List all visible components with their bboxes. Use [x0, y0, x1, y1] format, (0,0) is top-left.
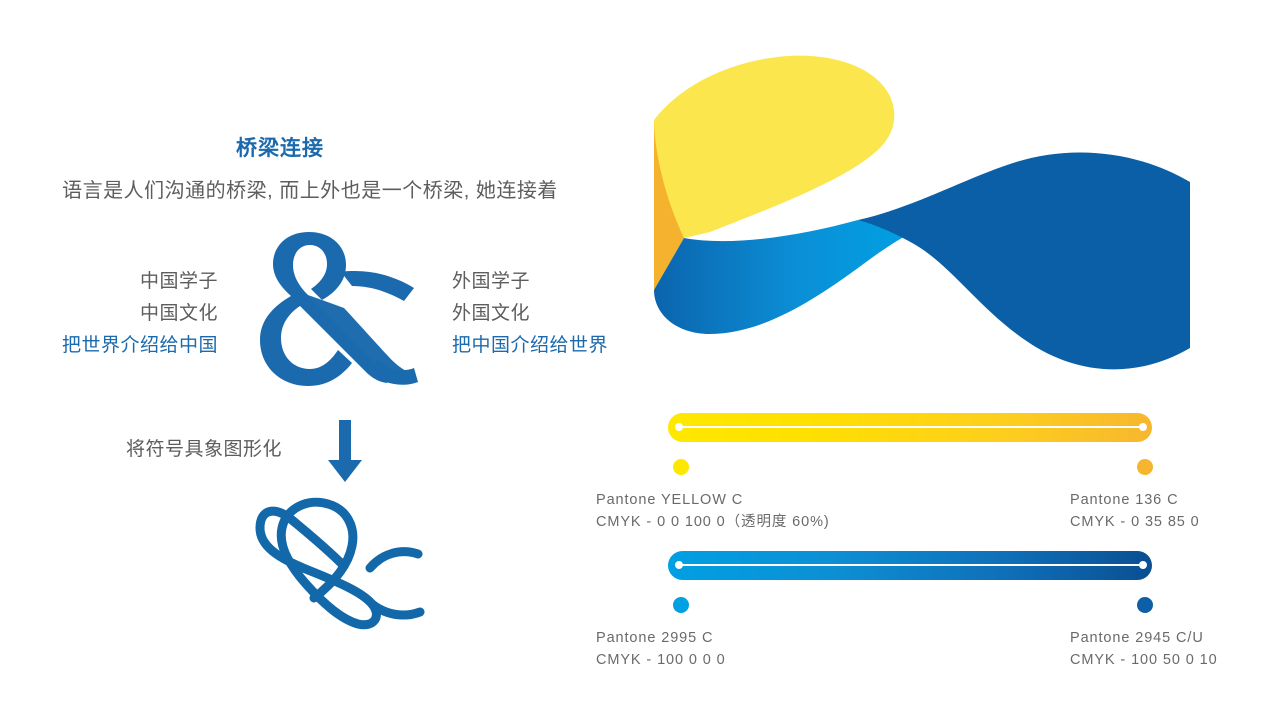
transform-label: 将符号具象图形化: [126, 434, 282, 461]
swatch-cmyk: CMYK - 0 35 85 0: [1070, 511, 1200, 533]
swatch-cmyk: CMYK - 0 0 100 0（透明度 60%): [596, 511, 830, 533]
swatch-cmyk: CMYK - 100 0 0 0: [596, 649, 726, 671]
swatch-dot-pantone-yellow-c: [673, 459, 689, 475]
gradient-bar-rule-yellow: [678, 426, 1142, 428]
gradient-endpoint-right-yellow: [1139, 423, 1147, 431]
swatch-name: Pantone YELLOW C: [596, 489, 830, 511]
concept-left-line-1: 中国学子: [0, 266, 218, 298]
left-content-panel: 桥梁连接 语言是人们沟通的桥梁, 而上外也是一个桥梁, 她连接着 中国学子 中国…: [0, 0, 640, 720]
swatch-caption-pantone-136-c: Pantone 136 C CMYK - 0 35 85 0: [1070, 489, 1200, 533]
ribbon-swoosh-logo: [632, 42, 1212, 372]
swatch-caption-pantone-2945-cu: Pantone 2945 C/U CMYK - 100 50 0 10: [1070, 627, 1218, 671]
gradient-endpoint-left-blue: [675, 561, 683, 569]
swatch-cmyk: CMYK - 100 50 0 10: [1070, 649, 1218, 671]
swatch-name: Pantone 2995 C: [596, 627, 726, 649]
ampersand-serif-icon: [248, 228, 448, 388]
swatch-dot-pantone-2995-c: [673, 597, 689, 613]
swatch-dot-pantone-2945-cu: [1137, 597, 1153, 613]
section-subtitle: 语言是人们沟通的桥梁, 而上外也是一个桥梁, 她连接着: [0, 174, 620, 203]
swatch-caption-pantone-yellow-c: Pantone YELLOW C CMYK - 0 0 100 0（透明度 60…: [596, 489, 830, 533]
swatch-name: Pantone 136 C: [1070, 489, 1200, 511]
logo-blue-dark-sweep: [858, 152, 1190, 369]
swatch-caption-pantone-2995-c: Pantone 2995 C CMYK - 100 0 0 0: [596, 627, 726, 671]
transform-row: 将符号具象图形化: [0, 428, 440, 488]
logo-yellow-lobe: [654, 56, 894, 238]
gradient-bar-rule-blue: [678, 564, 1142, 566]
concept-left-line-2: 中国文化: [0, 298, 218, 330]
gradient-endpoint-left-yellow: [675, 423, 683, 431]
concept-column-left: 中国学子 中国文化 把世界介绍给中国: [0, 266, 218, 362]
concept-left-line-3: 把世界介绍给中国: [0, 330, 218, 362]
arrow-down-icon: [326, 420, 364, 482]
logo-blue-light-lobe: [654, 220, 914, 334]
swatch-dot-pantone-136-c: [1137, 459, 1153, 475]
section-title: 桥梁连接: [0, 132, 560, 162]
swatch-name: Pantone 2945 C/U: [1070, 627, 1218, 649]
gradient-endpoint-right-blue: [1139, 561, 1147, 569]
ampersand-script-icon: [252, 488, 452, 633]
